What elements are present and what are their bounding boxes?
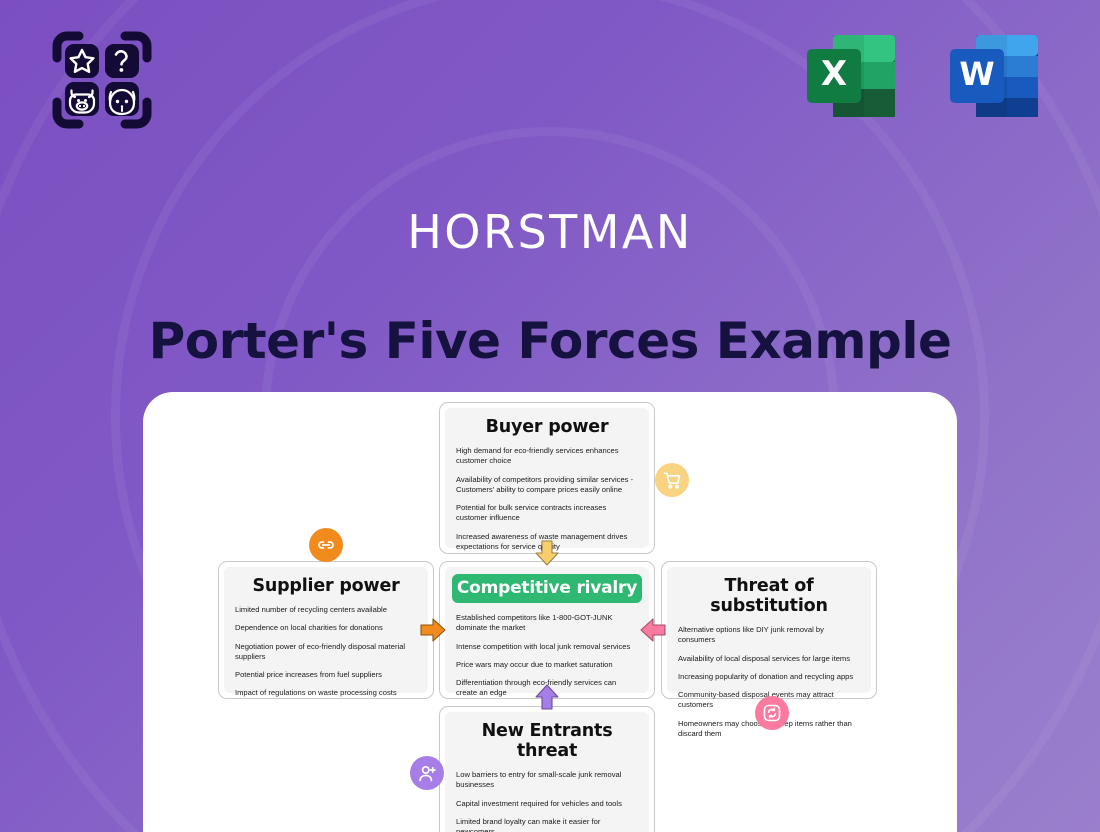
list-item: Limited brand loyalty can make it easier… — [456, 817, 638, 832]
arrow-buyer-to-rivalry — [533, 540, 561, 566]
add-person-icon — [410, 756, 444, 790]
word-icon: W — [944, 29, 1044, 123]
list-item: Capital investment required for vehicles… — [456, 799, 638, 809]
slide-canvas: X W HORSTMAN Porter's Five Forces Exampl… — [0, 0, 1100, 832]
list-item: Availability of competitors providing si… — [456, 475, 638, 496]
force-points-buyer-power: High demand for eco-friendly services en… — [456, 446, 638, 552]
list-item: Impact of regulations on waste processin… — [235, 688, 417, 698]
force-box-competitive-rivalry[interactable]: Competitive rivalry Established competit… — [439, 561, 655, 699]
force-title-competitive-rivalry: Competitive rivalry — [452, 574, 642, 603]
excel-icon: X — [801, 29, 901, 123]
office-icons-group: X W — [801, 29, 1044, 123]
list-item: Alternative options like DIY junk remova… — [678, 625, 860, 646]
shopping-cart-icon — [655, 463, 689, 497]
force-points-new-entrants-threat: Low barriers to entry for small-scale ju… — [456, 770, 638, 832]
force-title-supplier-power: Supplier power — [235, 576, 417, 596]
refresh-swap-icon — [755, 696, 789, 730]
brand-name: HORSTMAN — [0, 205, 1100, 259]
force-box-buyer-power[interactable]: Buyer power High demand for eco-friendly… — [439, 402, 655, 554]
chain-link-icon — [309, 528, 343, 562]
list-item: Intense competition with local junk remo… — [456, 642, 638, 652]
list-item: Limited number of recycling centers avai… — [235, 605, 417, 615]
force-title-threat-of-substitution: Threat of substitution — [678, 576, 860, 616]
force-box-supplier-power[interactable]: Supplier power Limited number of recycli… — [218, 561, 434, 699]
arrow-supplier-to-rivalry — [420, 616, 446, 644]
svg-text:X: X — [821, 54, 847, 94]
force-box-threat-of-substitution[interactable]: Threat of substitution Alternative optio… — [661, 561, 877, 699]
list-item: Negotiation power of eco-friendly dispos… — [235, 642, 417, 663]
list-item: Potential price increases from fuel supp… — [235, 670, 417, 680]
list-item: High demand for eco-friendly services en… — [456, 446, 638, 467]
arrow-substitution-to-rivalry — [640, 616, 666, 644]
qr-pets-logo-icon — [47, 26, 157, 134]
list-item: Dependence on local charities for donati… — [235, 623, 417, 633]
force-title-new-entrants-threat: New Entrants threat — [456, 721, 638, 761]
list-item: Availability of local disposal services … — [678, 654, 860, 664]
force-points-supplier-power: Limited number of recycling centers avai… — [235, 605, 417, 699]
arrow-entrants-to-rivalry — [533, 684, 561, 710]
list-item: Increasing popularity of donation and re… — [678, 672, 860, 682]
porters-five-forces-diagram: Buyer power High demand for eco-friendly… — [143, 392, 957, 832]
page-title: Porter's Five Forces Example — [0, 312, 1100, 370]
force-title-buyer-power: Buyer power — [456, 417, 638, 437]
list-item: Potential for bulk service contracts inc… — [456, 503, 638, 524]
svg-text:W: W — [959, 55, 994, 93]
list-item: Low barriers to entry for small-scale ju… — [456, 770, 638, 791]
diagram-card: Buyer power High demand for eco-friendly… — [143, 392, 957, 832]
list-item: Price wars may occur due to market satur… — [456, 660, 638, 670]
list-item: Established competitors like 1-800-GOT-J… — [456, 613, 638, 634]
force-box-new-entrants-threat[interactable]: New Entrants threat Low barriers to entr… — [439, 706, 655, 832]
